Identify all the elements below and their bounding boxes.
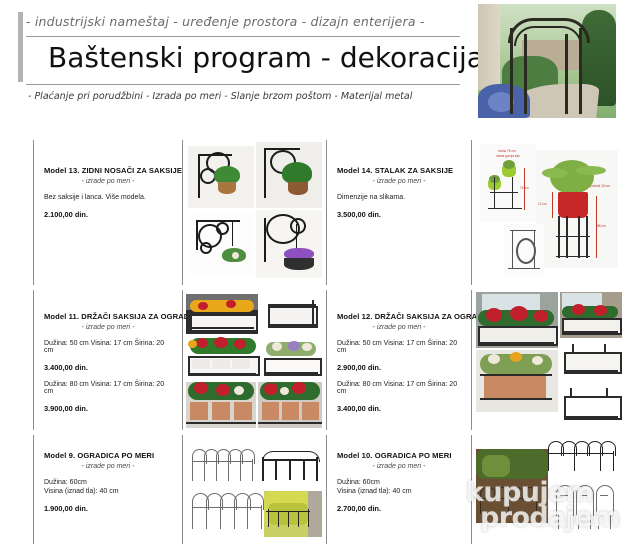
photo-fence-1	[192, 449, 254, 483]
photo-stand-1: visina 76 cm visina gornja sak 76 cm	[480, 144, 536, 222]
product-card-model-12[interactable]: Model 12. DRŽAČI SAKSIJA ZA OGRADE - izr…	[326, 290, 472, 430]
photo-windowbox-3	[560, 340, 622, 384]
product-detail: Bez saksije i lanca. Više modela.	[44, 194, 172, 201]
product-title: Model 9. OGRADICA PO MERI	[44, 451, 172, 460]
photo-planter-1	[186, 294, 258, 334]
photo-fence-3	[192, 493, 262, 529]
product-detail: Dužina: 60cm	[337, 479, 461, 486]
product-card-model-13[interactable]: Model 13. ZIDNI NOSAČI ZA SAKSIJE - izra…	[33, 140, 183, 285]
photo-bracket-1	[188, 146, 254, 208]
product-detail: Dužina: 80 cm Visina: 17 cm Širina: 20 c…	[337, 381, 461, 395]
product-detail: Dužina: 50 cm Visina: 17 cm Širina: 20 c…	[44, 340, 172, 354]
product-card-model-10[interactable]: Model 10. OGRADICA PO MERI - izrade po m…	[326, 435, 472, 544]
photo-arch-frame	[508, 14, 584, 114]
product-price: 3.400,00 din.	[44, 363, 172, 372]
photo-windowbox-1	[476, 292, 558, 348]
product-price: 3.900,00 din.	[44, 404, 172, 413]
plant-stand-photos: visina 76 cm visina gornja sak 76 cm	[476, 140, 622, 285]
product-title: Model 12. DRŽAČI SAKSIJA ZA OGRADE	[337, 312, 461, 321]
flyer-page: - industrijski nameštaj - uređenje prost…	[0, 0, 622, 544]
product-price: 2.900,00 din.	[337, 363, 461, 372]
photo-planter-2	[262, 298, 322, 334]
product-detail: Dimenzije na slikama.	[337, 194, 461, 201]
garden-arch-photo	[478, 4, 616, 118]
product-price: 3.400,00 din.	[337, 404, 461, 413]
header-accent-bar	[18, 12, 23, 82]
product-subtitle: - izrade po meri -	[337, 178, 461, 185]
product-detail: Dužina: 80 cm Visina: 17 cm Širina: 20 c…	[44, 381, 172, 395]
product-subtitle: - izrade po meri -	[337, 463, 461, 470]
product-subtitle: - izrade po meri -	[44, 463, 172, 470]
photo-windowbox-2	[560, 292, 622, 338]
product-detail: Visina (iznad tla): 40 cm	[44, 488, 172, 495]
page-title: Baštenski program - dekoracija	[48, 41, 468, 74]
photo-bracket-2	[256, 142, 322, 208]
garden-edging-photos	[186, 435, 323, 544]
product-price: 1.900,00 din.	[44, 504, 172, 513]
watermark-line-2: prodajem	[480, 505, 622, 530]
product-row-2: Model 11. DRŽAČI SAKSIJA ZA OGRADE - izr…	[0, 290, 622, 430]
product-detail: Dužina: 60cm	[44, 479, 172, 486]
watermark: kupujem prodajem	[466, 480, 622, 538]
product-price: 3.500,00 din.	[337, 210, 461, 219]
photo-windowbox-4	[476, 350, 558, 412]
window-box-photos	[476, 290, 622, 430]
photo-windowbox-5	[560, 386, 622, 430]
product-detail: Visina (iznad tla): 40 cm	[337, 488, 461, 495]
photo-fence-2	[262, 451, 318, 483]
product-card-model-14[interactable]: Model 14. STALAK ZA SAKSIJE - izrade po …	[326, 140, 472, 285]
product-title: Model 13. ZIDNI NOSAČI ZA SAKSIJE	[44, 166, 172, 175]
product-card-model-11[interactable]: Model 11. DRŽAČI SAKSIJA ZA OGRADE - izr…	[33, 290, 183, 430]
header-divider-bottom	[26, 84, 460, 85]
photo-stand-sketch	[504, 224, 544, 276]
railing-planter-photos	[186, 290, 323, 430]
header-divider-top	[26, 36, 460, 37]
product-title: Model 14. STALAK ZA SAKSIJE	[337, 166, 461, 175]
header-tagline-bottom: - Plaćanje pri porudžbini - Izrada po me…	[28, 91, 458, 102]
photo-bracket-4	[256, 210, 322, 278]
photo-planter-6	[258, 382, 322, 428]
photo-planter-5	[186, 382, 256, 428]
product-row-1: Model 13. ZIDNI NOSAČI ZA SAKSIJE - izra…	[0, 140, 622, 285]
product-subtitle: - izrade po meri -	[44, 324, 172, 331]
product-subtitle: - izrade po meri -	[44, 178, 172, 185]
product-price: 2.700,00 din.	[337, 504, 461, 513]
product-title: Model 11. DRŽAČI SAKSIJA ZA OGRADE	[44, 312, 172, 321]
photo-stand-2: 88 cm 12 cm prečnik 18 cm	[536, 150, 618, 268]
product-price: 2.100,00 din.	[44, 210, 172, 219]
photo-planter-4	[262, 340, 322, 380]
product-title: Model 10. OGRADICA PO MERI	[337, 451, 461, 460]
photo-wall-left	[478, 4, 500, 90]
photo-planter-3	[186, 336, 260, 380]
product-card-model-9[interactable]: Model 9. OGRADICA PO MERI - izrade po me…	[33, 435, 183, 544]
header: - industrijski nameštaj - uređenje prost…	[0, 0, 470, 120]
photo-fence-garden	[264, 491, 322, 537]
header-tagline-top: - industrijski nameštaj - uređenje prost…	[26, 14, 462, 29]
photo-edging-1	[548, 441, 614, 471]
wall-bracket-photos	[186, 140, 323, 285]
product-detail: Dužina: 50 cm Visina: 17 cm Širina: 20 c…	[337, 340, 461, 354]
photo-bracket-3	[188, 212, 254, 276]
product-subtitle: - izrade po meri -	[337, 324, 461, 331]
